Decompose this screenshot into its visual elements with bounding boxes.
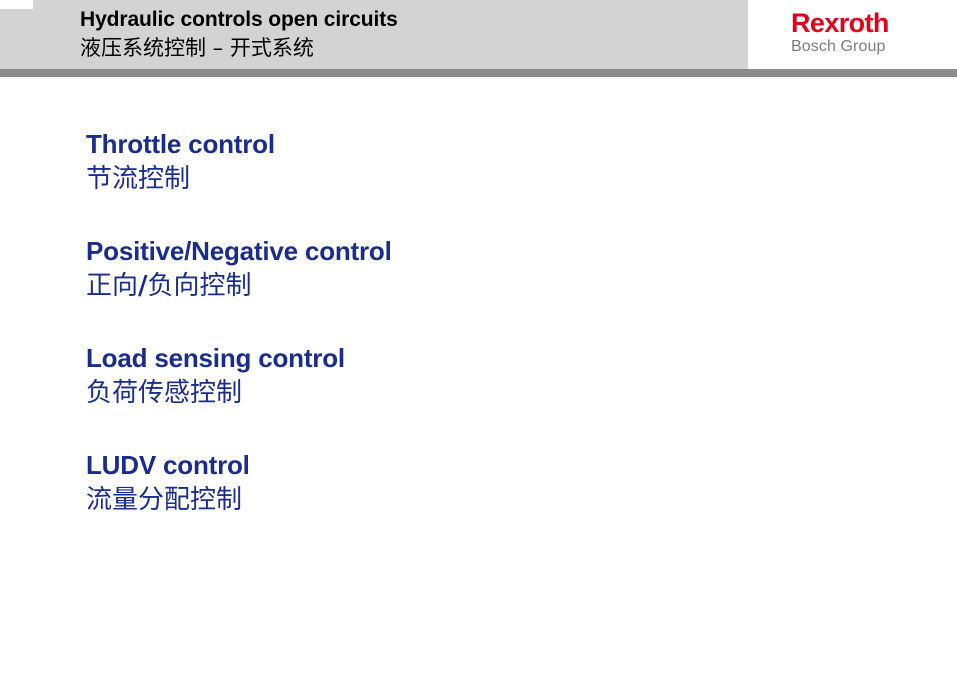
logo-group-name: Bosch Group (791, 37, 889, 56)
topic-item-positive-negative-control: Positive/Negative control 正向/负向控制 (86, 235, 886, 305)
topic-label-cn: 流量分配控制 (86, 481, 886, 519)
topic-item-load-sensing-control: Load sensing control 负荷传感控制 (86, 342, 886, 412)
topic-item-throttle-control: Throttle control 节流控制 (86, 128, 886, 198)
header-title-block: Hydraulic controls open circuits 液压系统控制 … (80, 7, 720, 63)
topic-label-cn-suffix: 负向控制 (148, 271, 252, 301)
corner-notch (0, 0, 33, 9)
topic-label-cn-separator: / (138, 271, 148, 301)
topic-list: Throttle control 节流控制 Positive/Negative … (86, 128, 886, 519)
brand-logo-panel: Rexroth Bosch Group (748, 0, 957, 69)
topic-label-en: Load sensing control (86, 342, 886, 374)
topic-label-cn: 正向/负向控制 (86, 267, 886, 305)
logo-brand-name: Rexroth (791, 9, 889, 37)
topic-label-cn: 负荷传感控制 (86, 374, 886, 412)
page-title: Hydraulic controls open circuits (80, 7, 720, 33)
slide-body: Throttle control 节流控制 Positive/Negative … (0, 77, 957, 676)
page-title-chinese: 液压系统控制 – 开式系统 (80, 33, 720, 63)
topic-item-ludv-control: LUDV control 流量分配控制 (86, 449, 886, 519)
topic-label-en: Throttle control (86, 128, 886, 160)
topic-label-en: Positive/Negative control (86, 235, 886, 267)
topic-label-en: LUDV control (86, 449, 886, 481)
topic-label-cn: 节流控制 (86, 160, 886, 198)
rexroth-logo-icon: Rexroth Bosch Group (791, 9, 889, 56)
header-separator-bar (0, 69, 957, 77)
topic-label-cn-prefix: 正向 (86, 271, 138, 301)
